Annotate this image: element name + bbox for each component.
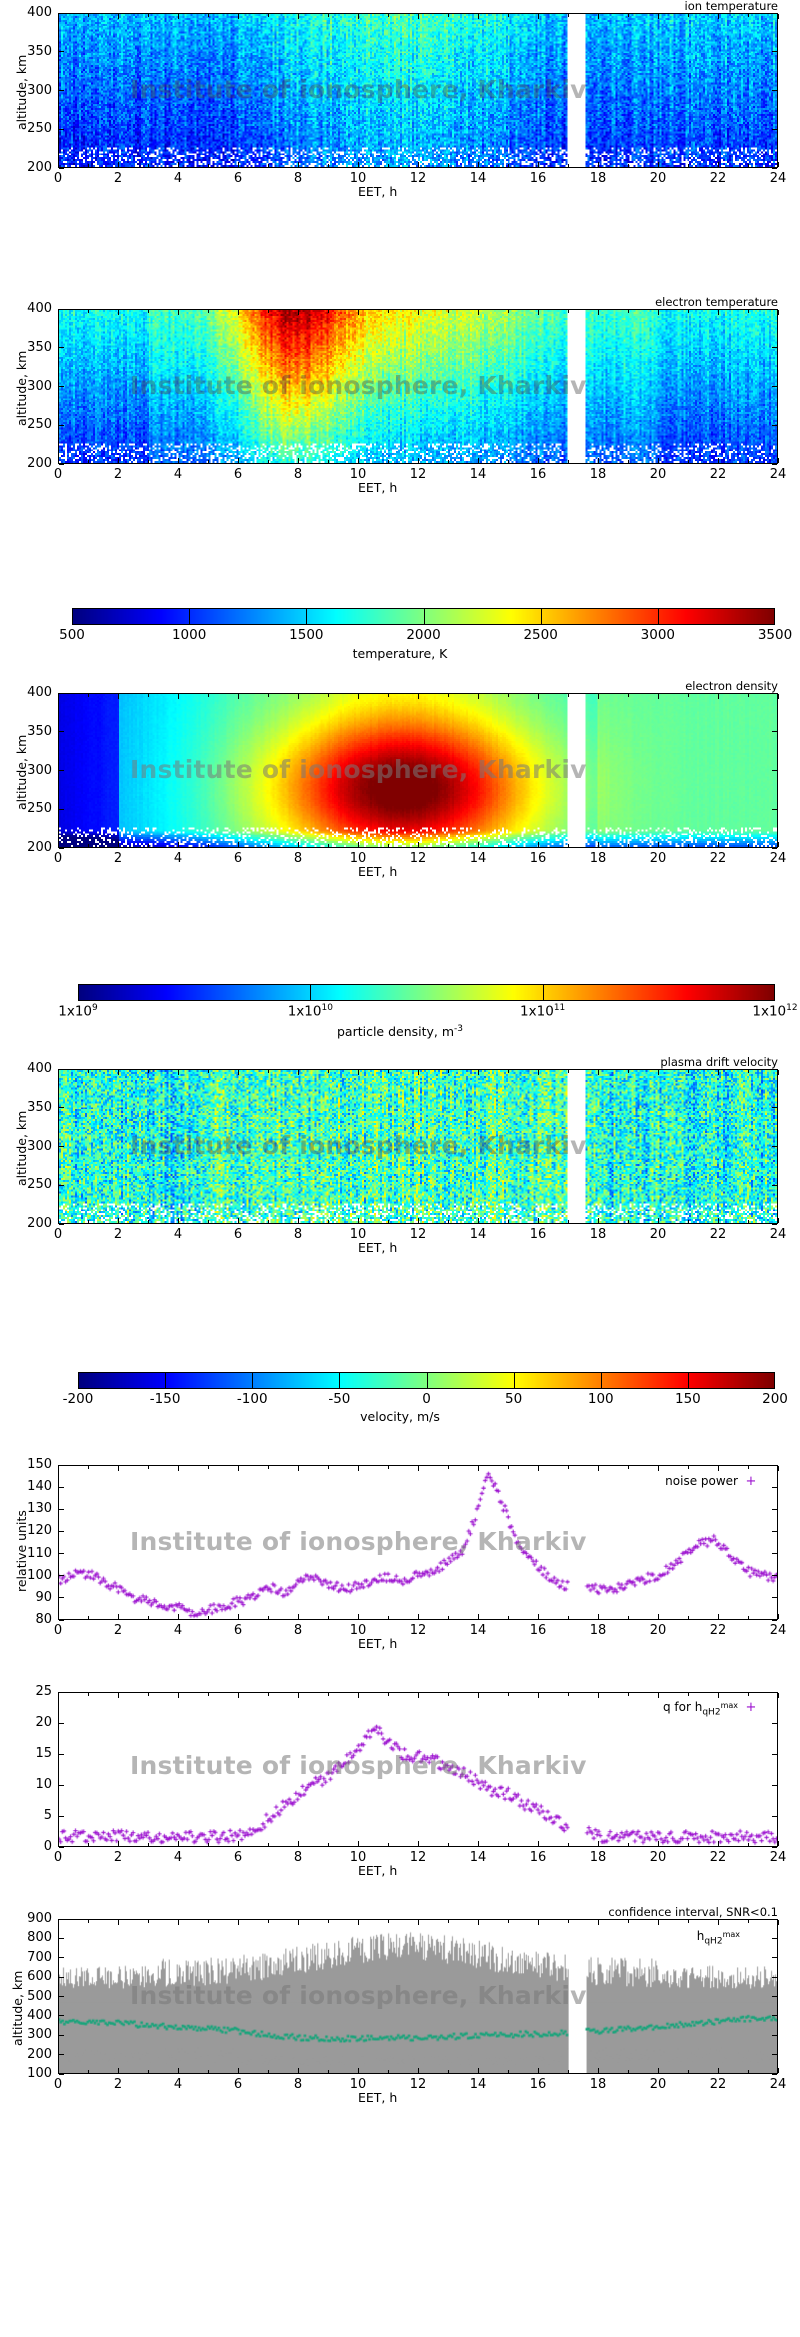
x-minor-tick [388,694,389,697]
y-tick-label: 120 [0,1523,52,1538]
x-tick-label: 12 [396,467,440,482]
x-minor-tick [748,1843,749,1846]
x-tick-mark [778,842,779,847]
x-minor-tick [568,14,569,17]
x-minor-tick [688,694,689,697]
x-tick-mark [478,1218,479,1223]
colorbar-tick [688,1372,689,1389]
x-minor-tick [568,460,569,463]
x-tick-mark [478,162,479,167]
panel-electron-temperature: electron temperature Institute of ionosp… [0,296,800,491]
x-tick-mark [358,1920,359,1925]
x-tick-mark [358,1693,359,1698]
y-tick-label: 200 [0,2047,52,2062]
x-tick-mark [718,842,719,847]
colorbar-tick [306,608,307,625]
x-minor-tick [748,1070,749,1073]
x-minor-tick [148,844,149,847]
x-tick-mark [118,1841,119,1846]
x-tick-label: 6 [216,1623,260,1638]
x-tick-mark [718,1920,719,1925]
x-tick-mark [658,310,659,315]
y-tick-mark [59,2015,64,2016]
x-tick-mark [478,1070,479,1075]
x-tick-label: 18 [576,467,620,482]
x-minor-tick [388,14,389,17]
colorbar-tick [424,608,425,625]
x-tick-mark [238,1070,239,1075]
y-tick-label: 250 [0,801,52,816]
legend-q-factor: q for hqH2max+ [663,1699,764,1717]
y-tick-mark [59,425,64,426]
x-tick-mark [298,14,299,19]
y-tick-mark [59,51,64,52]
x-minor-tick [148,310,149,313]
y-tick-mark [59,1597,64,1598]
y-tick-label: 10 [0,1777,52,1792]
x-tick-mark [58,1693,59,1698]
x-tick-label: 10 [336,467,380,482]
x-tick-label: 0 [36,2077,80,2092]
colorbar-tick-label: 2000 [379,627,469,643]
x-tick-label: 24 [756,467,800,482]
colorbar-tick-label: 1x1012 [730,1003,800,1020]
x-minor-tick [568,694,569,697]
x-minor-tick [208,694,209,697]
x-tick-mark [418,162,419,167]
x-tick-label: 18 [576,2077,620,2092]
x-tick-label: 22 [696,1623,740,1638]
panel-title-plasma-drift-velocity: plasma drift velocity [660,1056,778,1068]
x-minor-tick [688,1466,689,1469]
x-tick-label: 14 [456,171,500,186]
x-tick-label: 24 [756,171,800,186]
y-tick-mark [772,1465,777,1466]
x-tick-mark [118,310,119,315]
x-tick-label: 20 [636,467,680,482]
y-tick-label: 900 [0,1911,52,1926]
x-tick-mark [718,1841,719,1846]
y-tick-label: 25 [0,1684,52,1699]
x-tick-label: 10 [336,171,380,186]
x-tick-mark [478,1693,479,1698]
x-tick-label: 8 [276,1623,320,1638]
x-tick-mark [658,694,659,699]
x-minor-tick [388,460,389,463]
colorbar-tick-label: 3500 [730,627,800,643]
x-minor-tick [388,1616,389,1619]
x-tick-mark [298,1614,299,1619]
x-minor-tick [688,164,689,167]
x-tick-mark [298,458,299,463]
x-minor-tick [448,1466,449,1469]
x-minor-tick [628,1693,629,1696]
y-tick-label: 600 [0,1969,52,1984]
x-tick-mark [58,2068,59,2073]
x-tick-mark [178,14,179,19]
colorbar-caption-velocity: velocity, m/s [0,1409,800,1424]
x-minor-tick [568,1616,569,1619]
x-tick-mark [598,694,599,699]
x-tick-mark [538,1920,539,1925]
x-tick-mark [418,2068,419,2073]
x-tick-mark [718,1070,719,1075]
x-minor-tick [148,1920,149,1923]
y-tick-mark [772,425,777,426]
x-minor-tick [388,844,389,847]
y-tick-mark [59,464,64,465]
legend-noise-power: noise power+ [665,1474,764,1489]
x-tick-mark [298,842,299,847]
x-tick-mark [238,1218,239,1223]
x-tick-label: 2 [96,171,140,186]
y-tick-mark [59,309,64,310]
x-tick-label: 8 [276,851,320,866]
x-tick-mark [418,1920,419,1925]
x-minor-tick [688,1920,689,1923]
x-minor-tick [208,1220,209,1223]
x-tick-mark [58,458,59,463]
x-tick-label: 16 [516,851,560,866]
colorbar-tick-label: 3000 [613,627,703,643]
x-tick-mark [178,1693,179,1698]
y-tick-mark [59,809,64,810]
x-tick-mark [178,162,179,167]
y-tick-label: 300 [0,763,52,778]
y-tick-label: 400 [0,685,52,700]
x-minor-tick [448,460,449,463]
x-tick-mark [178,1218,179,1223]
x-minor-tick [268,1920,269,1923]
x-tick-mark [538,694,539,699]
colorbar-tick [189,608,190,625]
x-tick-mark [778,694,779,699]
x-tick-label: 16 [516,1227,560,1242]
x-tick-label: 4 [156,1623,200,1638]
x-minor-tick [688,1220,689,1223]
x-minor-tick [388,310,389,313]
x-minor-tick [208,1920,209,1923]
x-minor-tick [268,1070,269,1073]
axis-label-eet: EET, h [358,1863,397,1878]
x-minor-tick [208,1466,209,1469]
x-tick-mark [358,1614,359,1619]
x-tick-mark [718,1218,719,1223]
x-minor-tick [148,1070,149,1073]
x-tick-label: 8 [276,1850,320,1865]
x-tick-mark [718,694,719,699]
y-tick-mark [59,347,64,348]
x-tick-label: 10 [336,1850,380,1865]
x-tick-label: 16 [516,1850,560,1865]
colorbar-tick [514,1372,515,1389]
x-tick-mark [298,1070,299,1075]
y-tick-mark [772,168,777,169]
y-tick-label: 300 [0,1139,52,1154]
x-tick-mark [178,310,179,315]
x-minor-tick [568,2070,569,2073]
panel-ion-temperature: ion temperature Institute of ionosphere,… [0,0,800,195]
x-tick-mark [778,310,779,315]
caption-text: particle density, m [337,1024,454,1039]
x-tick-mark [478,1841,479,1846]
x-tick-mark [118,1920,119,1925]
y-tick-mark [772,2074,777,2075]
y-tick-label: 350 [0,724,52,739]
scatter-confidence-interval [59,1920,777,2073]
x-minor-tick [328,1070,329,1073]
axis-label-eet: EET, h [358,480,397,495]
x-tick-mark [178,1070,179,1075]
x-minor-tick [628,1070,629,1073]
x-minor-tick [628,164,629,167]
x-minor-tick [508,310,509,313]
panel-confidence-interval: confidence interval, SNR<0.1 hqH2max Ins… [0,1906,800,2126]
x-tick-mark [718,2068,719,2073]
x-minor-tick [328,1920,329,1923]
x-tick-mark [598,162,599,167]
panel-q-factor: q for hqH2max+ Institute of ionosphere, … [0,1679,800,1879]
colorbar-tick [339,1372,340,1389]
x-tick-label: 20 [636,1850,680,1865]
x-minor-tick [508,1466,509,1469]
x-tick-mark [418,1466,419,1471]
x-tick-mark [178,842,179,847]
y-tick-mark [772,1723,777,1724]
y-tick-mark [772,1107,777,1108]
x-minor-tick [748,310,749,313]
x-tick-mark [478,1920,479,1925]
x-minor-tick [508,694,509,697]
x-tick-label: 8 [276,171,320,186]
x-minor-tick [148,1616,149,1619]
y-tick-label: 400 [0,301,52,316]
x-tick-mark [478,694,479,699]
x-tick-mark [358,1841,359,1846]
x-minor-tick [388,1693,389,1696]
x-minor-tick [88,1070,89,1073]
x-tick-label: 14 [456,1623,500,1638]
colorbar-tick-label: -100 [207,1391,297,1407]
y-tick-label: 350 [0,44,52,59]
x-tick-mark [178,1466,179,1471]
x-tick-mark [238,1693,239,1698]
legend-marker-plus-icon: + [738,1474,764,1489]
x-tick-mark [718,14,719,19]
colorbar-tick [543,984,544,1001]
colorbar-temperature: 500100015002000250030003500 temperature,… [0,608,800,664]
x-tick-label: 22 [696,171,740,186]
heatmap-plasma-drift-velocity [59,1070,777,1223]
x-tick-mark [718,458,719,463]
x-tick-mark [418,1070,419,1075]
x-tick-label: 8 [276,467,320,482]
x-tick-mark [118,2068,119,2073]
x-minor-tick [748,2070,749,2073]
x-tick-label: 14 [456,1227,500,1242]
x-tick-label: 6 [216,1227,260,1242]
x-tick-mark [658,1614,659,1619]
panel-electron-density: electron density Institute of ionosphere… [0,680,800,875]
y-tick-mark [772,1620,777,1621]
x-tick-label: 16 [516,2077,560,2092]
x-minor-tick [268,460,269,463]
x-minor-tick [748,460,749,463]
y-tick-label: 5 [0,1808,52,1823]
x-minor-tick [748,1920,749,1923]
x-minor-tick [148,14,149,17]
x-tick-mark [298,162,299,167]
x-tick-label: 0 [36,1623,80,1638]
x-minor-tick [388,1466,389,1469]
y-tick-mark [772,848,777,849]
colorbar-tick-label: 100 [556,1391,646,1407]
colorbar-tick-label: -150 [120,1391,210,1407]
x-minor-tick [748,1466,749,1469]
legend-label-subscript2: max [721,1701,738,1710]
legend-label-subscript2: max [723,1930,740,1939]
x-tick-mark [538,310,539,315]
x-minor-tick [88,1616,89,1619]
x-tick-mark [418,1841,419,1846]
y-tick-label: 800 [0,1930,52,1945]
x-minor-tick [688,460,689,463]
colorbar-tick-label: 150 [643,1391,733,1407]
x-minor-tick [508,1220,509,1223]
x-minor-tick [568,164,569,167]
x-minor-tick [88,1693,89,1696]
y-tick-mark [772,51,777,52]
x-tick-mark [478,1466,479,1471]
y-tick-label: 350 [0,340,52,355]
x-tick-mark [238,310,239,315]
y-tick-mark [59,1146,64,1147]
y-tick-mark [59,1754,64,1755]
x-tick-mark [358,2068,359,2073]
x-minor-tick [448,1843,449,1846]
x-tick-mark [778,2068,779,2073]
x-tick-mark [178,458,179,463]
x-tick-label: 0 [36,1850,80,1865]
x-tick-label: 4 [156,467,200,482]
x-tick-mark [58,1070,59,1075]
x-tick-mark [178,694,179,699]
x-minor-tick [748,164,749,167]
y-tick-mark [59,386,64,387]
x-minor-tick [328,310,329,313]
x-tick-mark [598,1614,599,1619]
x-minor-tick [88,14,89,17]
x-minor-tick [508,164,509,167]
x-tick-label: 4 [156,1850,200,1865]
x-minor-tick [268,14,269,17]
x-minor-tick [448,1070,449,1073]
x-minor-tick [568,1466,569,1469]
x-tick-mark [658,1466,659,1471]
colorbar-caption-density: particle density, m-3 [0,1024,800,1039]
x-tick-mark [598,1466,599,1471]
x-tick-label: 0 [36,171,80,186]
x-tick-mark [478,458,479,463]
y-tick-mark [59,770,64,771]
x-tick-label: 6 [216,1850,260,1865]
y-tick-mark [772,90,777,91]
x-tick-label: 18 [576,1850,620,1865]
x-tick-label: 6 [216,2077,260,2092]
x-minor-tick [568,1843,569,1846]
x-tick-mark [778,458,779,463]
x-tick-label: 12 [396,1227,440,1242]
x-minor-tick [748,694,749,697]
colorbar-tick [601,1372,602,1389]
x-minor-tick [88,1220,89,1223]
x-tick-mark [418,310,419,315]
x-tick-mark [178,2068,179,2073]
x-minor-tick [448,1220,449,1223]
x-minor-tick [748,1616,749,1619]
x-minor-tick [208,14,209,17]
x-minor-tick [688,844,689,847]
y-tick-mark [59,1487,64,1488]
x-tick-label: 4 [156,171,200,186]
x-tick-label: 20 [636,1623,680,1638]
x-minor-tick [208,2070,209,2073]
x-tick-mark [598,2068,599,2073]
x-minor-tick [568,1920,569,1923]
y-tick-mark [59,129,64,130]
colorbar-tick [310,984,311,1001]
x-tick-label: 18 [576,851,620,866]
y-tick-mark [59,1224,64,1225]
x-tick-label: 22 [696,467,740,482]
x-tick-mark [598,1920,599,1925]
colorbar-tick-label: 1500 [261,627,351,643]
x-minor-tick [268,164,269,167]
x-minor-tick [628,2070,629,2073]
x-tick-mark [58,1841,59,1846]
colorbar-tick-label: 0 [382,1391,472,1407]
plot-area-confidence-interval [58,1919,778,2074]
x-tick-mark [718,1693,719,1698]
colorbar-tick-label: 1x109 [33,1003,123,1020]
y-tick-mark [772,1597,777,1598]
panel-title-electron-temperature: electron temperature [655,296,778,308]
x-tick-mark [358,1218,359,1223]
x-tick-mark [178,1920,179,1925]
x-tick-mark [418,694,419,699]
x-tick-mark [538,1466,539,1471]
x-minor-tick [328,460,329,463]
x-minor-tick [88,310,89,313]
y-tick-mark [772,1919,777,1920]
x-tick-label: 24 [756,1623,800,1638]
x-minor-tick [448,1693,449,1696]
x-tick-label: 16 [516,1623,560,1638]
x-tick-label: 8 [276,2077,320,2092]
y-tick-label: 130 [0,1501,52,1516]
colorbar-tick-label: 200 [730,1391,800,1407]
colorbar-tick-label: 50 [469,1391,559,1407]
x-minor-tick [328,2070,329,2073]
y-tick-mark [59,1816,64,1817]
x-minor-tick [88,164,89,167]
colorbar-tick-label: 1000 [144,627,234,643]
y-tick-mark [59,2035,64,2036]
y-tick-mark [59,1785,64,1786]
x-tick-mark [778,1841,779,1846]
x-minor-tick [688,1693,689,1696]
y-tick-mark [59,1692,64,1693]
